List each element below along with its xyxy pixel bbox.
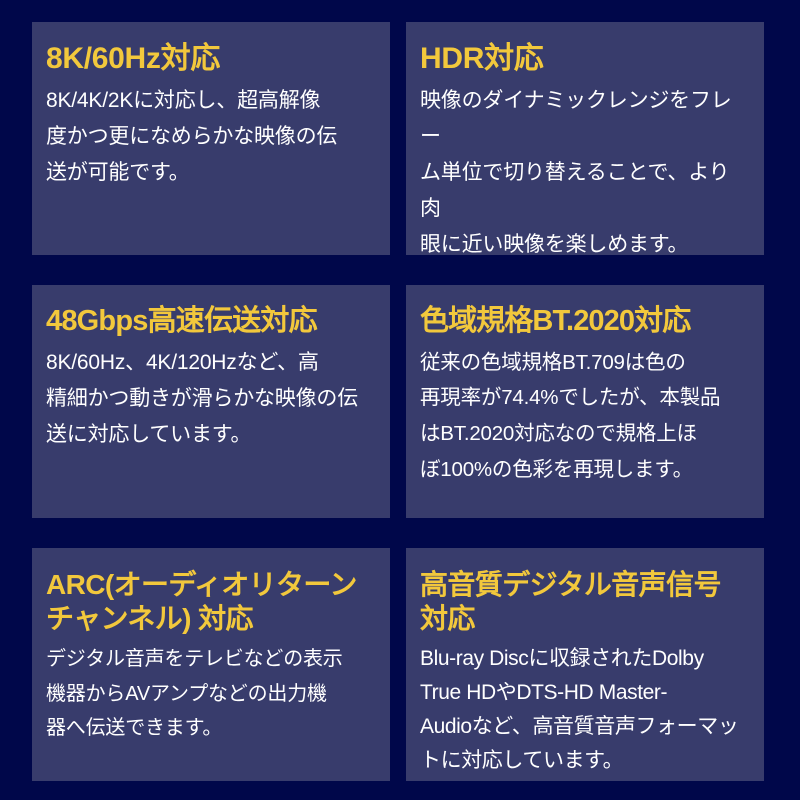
card-body: デジタル音声をテレビなどの表示 機器からAVアンプなどの出力機 器へ伝送できます…: [46, 642, 374, 745]
card-title: 色域規格BT.2020対応: [420, 305, 748, 339]
card-title: 高音質デジタル音声信号 対応: [420, 568, 748, 636]
card-title: 48Gbps高速伝送対応: [46, 305, 374, 339]
feature-card-8k-60hz: 8K/60Hz対応 8K/4K/2Kに対応し、超高解像 度かつ更になめらかな映像…: [32, 22, 390, 255]
feature-grid: 8K/60Hz対応 8K/4K/2Kに対応し、超高解像 度かつ更になめらかな映像…: [0, 0, 800, 800]
card-body: Blu-ray Discに収録されたDolby True HDやDTS-HD M…: [420, 642, 748, 778]
feature-card-bt2020: 色域規格BT.2020対応 従来の色域規格BT.709は色の 再現率が74.4%…: [406, 285, 764, 518]
feature-card-48gbps: 48Gbps高速伝送対応 8K/60Hz、4K/120Hzなど、高 精細かつ動き…: [32, 285, 390, 518]
feature-card-arc: ARC(オーディオリターン チャンネル) 対応 デジタル音声をテレビなどの表示 …: [32, 548, 390, 781]
card-body: 8K/4K/2Kに対応し、超高解像 度かつ更になめらかな映像の伝 送が可能です。: [46, 83, 374, 191]
card-body: 映像のダイナミックレンジをフレー ム単位で切り替えることで、より肉 眼に近い映像…: [420, 83, 748, 255]
feature-card-hires-audio: 高音質デジタル音声信号 対応 Blu-ray Discに収録されたDolby T…: [406, 548, 764, 781]
card-title: HDR対応: [420, 42, 748, 77]
card-title: ARC(オーディオリターン チャンネル) 対応: [46, 568, 374, 636]
card-body: 従来の色域規格BT.709は色の 再現率が74.4%でしたが、本製品 はBT.2…: [420, 345, 748, 488]
feature-card-hdr: HDR対応 映像のダイナミックレンジをフレー ム単位で切り替えることで、より肉 …: [406, 22, 764, 255]
card-body: 8K/60Hz、4K/120Hzなど、高 精細かつ動きが滑らかな映像の伝 送に対…: [46, 345, 374, 453]
card-title: 8K/60Hz対応: [46, 42, 374, 77]
